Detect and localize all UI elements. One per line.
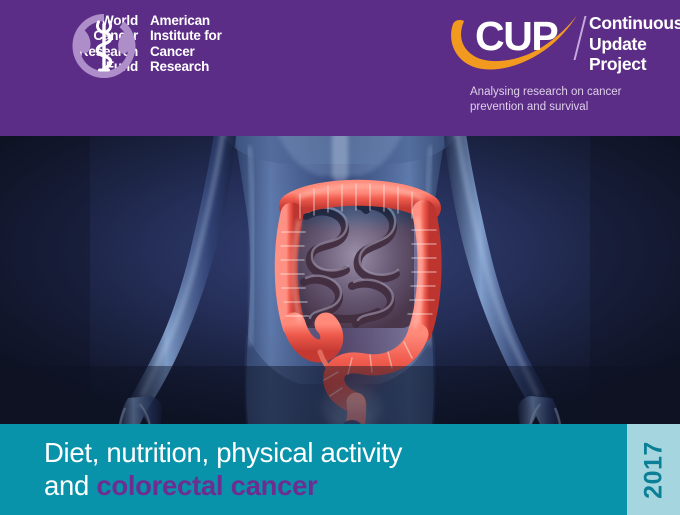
title-line-2-accent: colorectal cancer (96, 470, 317, 501)
year-badge: 2017 (627, 424, 680, 515)
cup-tagline-line-1: Analysing research on cancer (470, 86, 622, 98)
cup-full-name: ContinuousUpdateProject (589, 13, 680, 75)
aicr-line-research: Research (150, 59, 209, 74)
cup-tagline-line-2: prevention and survival (470, 101, 588, 113)
title-bar: Diet, nutrition, physical activity and c… (0, 424, 680, 515)
page-title: Diet, nutrition, physical activity and c… (44, 436, 402, 502)
wcrf-aicr-logo[interactable]: WorldCancerResearchFund (50, 10, 295, 88)
cup-name-line-3: Project (589, 54, 646, 74)
year-label: 2017 (639, 441, 668, 499)
title-line-2: and colorectal cancer (44, 469, 402, 502)
title-line-1: Diet, nutrition, physical activity (44, 436, 402, 469)
cup-acronym: CUP (475, 16, 557, 57)
aicr-line-american: American (150, 13, 210, 28)
title-line-2-prefix: and (44, 470, 96, 501)
cup-logo[interactable]: CUP ContinuousUpdateProject (447, 8, 657, 78)
cup-tagline: Analysing research on cancerprevention a… (470, 85, 622, 114)
aicr-line-cancer: Cancer (150, 44, 195, 59)
caduceus-circle-icon (68, 10, 140, 82)
report-cover: WorldCancerResearchFund (0, 0, 680, 515)
cup-name-line-2: Update (589, 34, 647, 54)
aicr-wordmark-right: AmericanInstitute forCancerResearch (150, 13, 300, 75)
cup-name-line-1: Continuous (589, 13, 680, 33)
header-band: WorldCancerResearchFund (0, 0, 680, 136)
colorectal-anatomy-illustration (0, 136, 680, 424)
aicr-line-institute: Institute for (150, 28, 222, 43)
